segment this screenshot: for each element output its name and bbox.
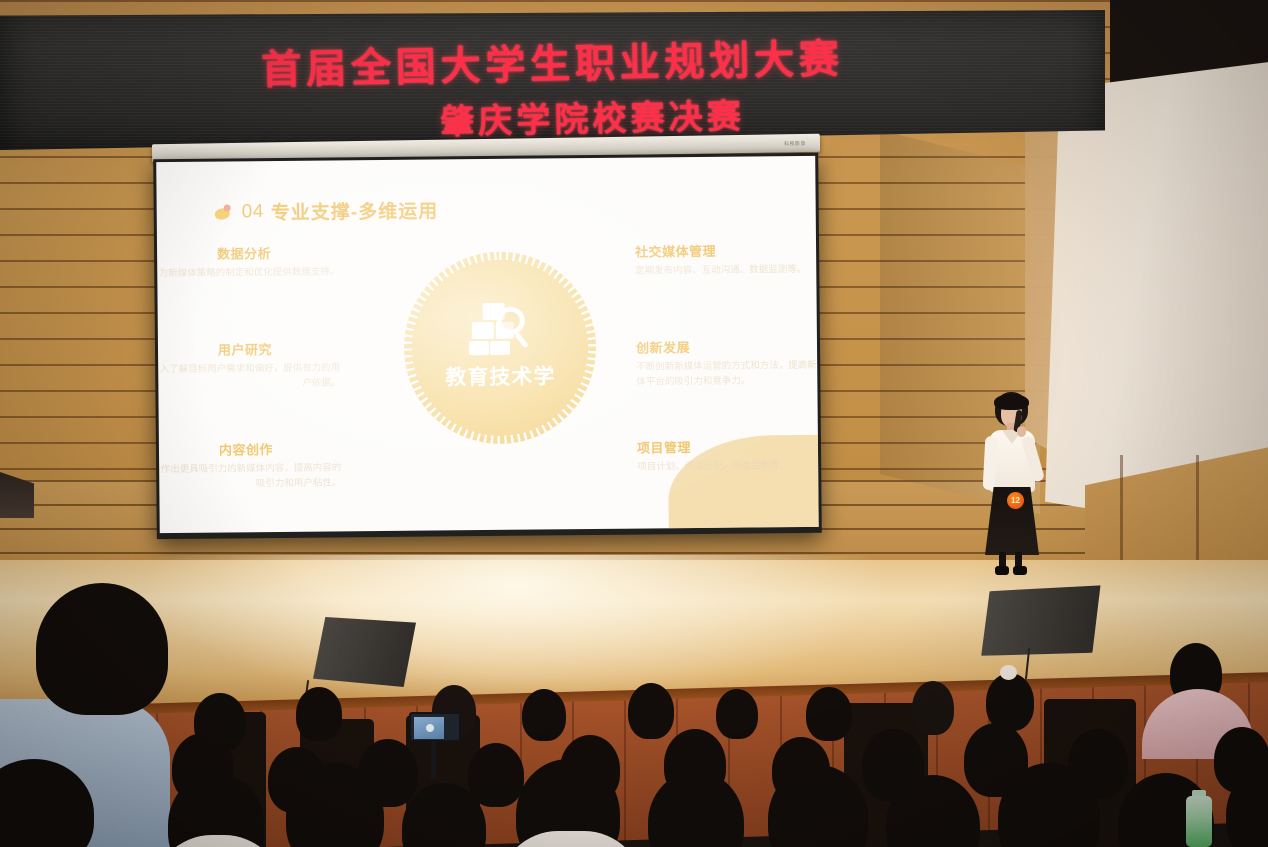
audience-head [716, 689, 758, 739]
presentation-slide: 04 专业支撑-多维运用 数据分析 为新媒体策略的制定和优化提供数据支持。 用户… [156, 156, 819, 533]
node-desc: 不断创新新媒体运营的方式和方法，提高新媒体平台的吸引力和竞争力。 [636, 359, 819, 390]
slide-section-number: 04 [242, 201, 264, 223]
slide-node-data-analysis: 数据分析 为新媒体策略的制定和优化提供数据支持。 [156, 242, 339, 282]
slide-center-badge: 教育技术学 [403, 251, 597, 445]
event-banner: 首届全国大学生职业规划大赛 肇庆学院校赛决赛 [0, 10, 1105, 150]
audience-head [628, 683, 674, 739]
audience-head [648, 771, 744, 847]
slide-node-content-creation: 内容创作 创作出更具吸引力的新媒体内容，提高内容的吸引力和用户粘性。 [156, 438, 341, 492]
node-desc: 深入了解目标用户需求和偏好，提供有力的用户依据。 [156, 361, 340, 392]
slide-node-user-research: 用户研究 深入了解目标用户需求和偏好，提供有力的用户依据。 [156, 338, 340, 392]
audience-head [522, 689, 566, 741]
node-title: 项目管理 [637, 436, 819, 457]
magnifier-boxes-icon [469, 303, 531, 356]
projector-screen-frame: 04 专业支撑-多维运用 数据分析 为新媒体策略的制定和优化提供数据支持。 用户… [153, 153, 822, 539]
node-title: 社交媒体管理 [635, 240, 819, 261]
node-title: 创新发展 [636, 336, 819, 357]
contestant-number-badge: 12 [1007, 492, 1024, 509]
smartphone-screen-highlight [426, 724, 434, 732]
presenter-shoe-right [1013, 566, 1027, 575]
slide-node-project-management: 项目管理 项目计划、资源分配、进度控制等。 [637, 436, 819, 476]
decorative-leaf-icon [215, 204, 235, 220]
presenter: 12 [977, 392, 1047, 582]
screen-brand-logo: 科视影音 [784, 140, 806, 147]
node-desc: 为新媒体策略的制定和优化提供数据支持。 [156, 265, 339, 282]
slide-node-social-media: 社交媒体管理 定期发布内容、互动沟通、数据监测等。 [635, 240, 819, 280]
slide-node-innovation: 创新发展 不断创新新媒体运营的方式和方法，提高新媒体平台的吸引力和竞争力。 [636, 336, 819, 390]
audience-head [468, 743, 524, 807]
audience-head-foreground [36, 583, 168, 715]
tripod-stand [431, 741, 436, 779]
presenter-fringe [994, 394, 1029, 410]
node-title: 数据分析 [156, 242, 339, 263]
photo-canvas: 首届全国大学生职业规划大赛 肇庆学院校赛决赛 科视影音 04 专业支撑-多维运用… [0, 0, 1268, 847]
audience-area [0, 577, 1268, 847]
node-desc: 创作出更具吸引力的新媒体内容，提高内容的吸引力和用户粘性。 [156, 461, 341, 492]
node-desc: 项目计划、资源分配、进度控制等。 [637, 459, 819, 476]
smartphone [409, 712, 461, 742]
audience-head [912, 681, 954, 735]
hair-tie [1000, 665, 1017, 680]
presenter-shoe-left [995, 566, 1009, 575]
audience-head [806, 687, 852, 741]
projector-screen-surface: 04 专业支撑-多维运用 数据分析 为新媒体策略的制定和优化提供数据支持。 用户… [156, 156, 819, 533]
slide-header: 04 专业支撑-多维运用 [215, 196, 439, 225]
node-title: 用户研究 [156, 338, 340, 359]
smartphone-recording-rig [409, 712, 465, 782]
node-desc: 定期发布内容、互动沟通、数据监测等。 [635, 263, 819, 280]
audience-head [296, 687, 342, 741]
slide-section-title: 专业支撑-多维运用 [271, 196, 439, 225]
water-bottle [1186, 796, 1212, 847]
presenter-hand [1017, 426, 1026, 437]
node-title: 内容创作 [156, 438, 341, 459]
